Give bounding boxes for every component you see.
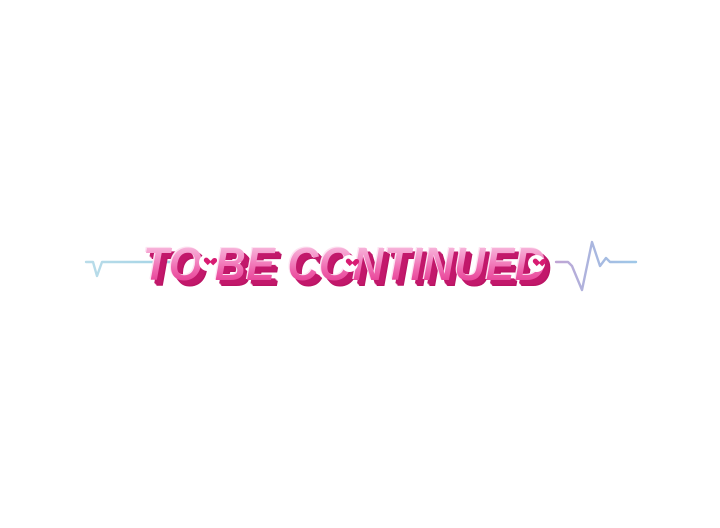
to-be-continued-card: TO BE CONTINUED TO BE CONTINUED TO BE CO… (0, 0, 720, 528)
headline: TO BE CONTINUED TO BE CONTINUED TO BE CO… (143, 241, 576, 287)
banner-row: TO BE CONTINUED TO BE CONTINUED TO BE CO… (0, 232, 720, 296)
ekg-heartbeat-right (552, 232, 644, 296)
headline-face-layer: TO BE CONTINUED (143, 241, 546, 287)
